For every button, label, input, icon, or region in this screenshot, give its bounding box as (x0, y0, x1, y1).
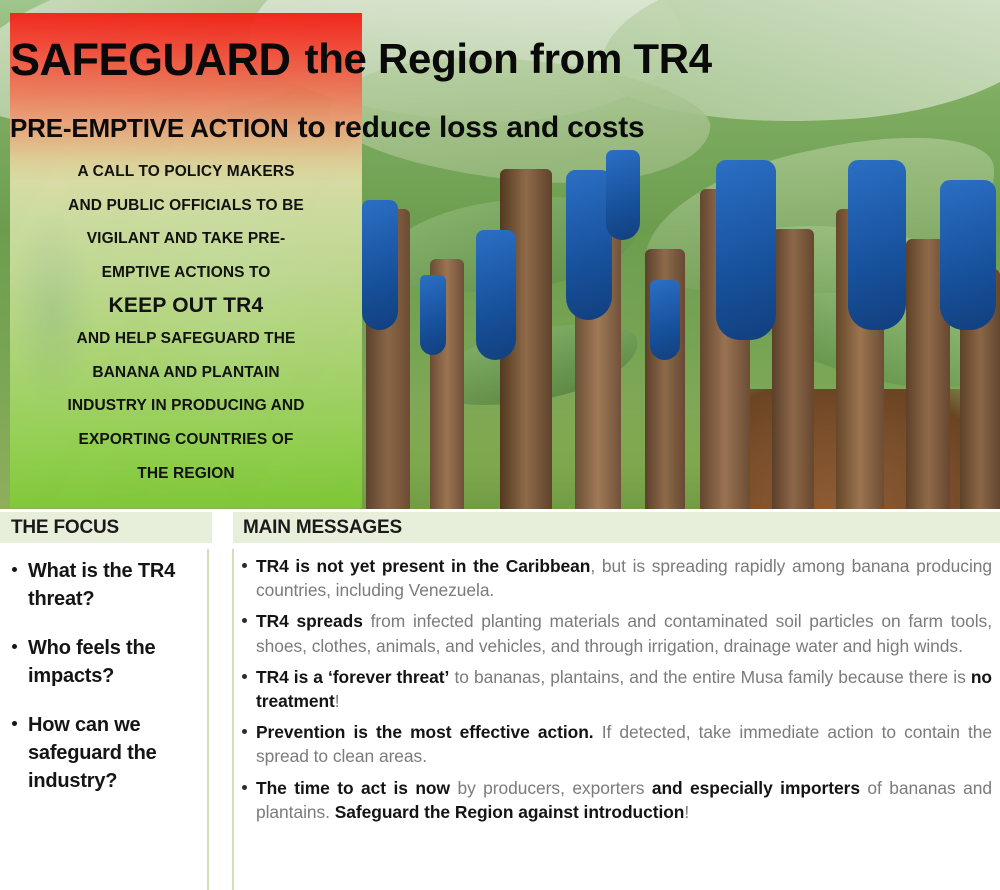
blue-bunch-cover (606, 150, 640, 240)
blue-bunch-cover (716, 160, 776, 340)
message-text: to bananas, plantains, and the entire Mu… (449, 667, 971, 687)
message-emphasis: and especially importers (652, 778, 860, 798)
message-emphasis: TR4 spreads (256, 611, 363, 631)
message-list-item: Prevention is the most effective action.… (240, 720, 992, 768)
focus-section-header: THE FOCUS (0, 512, 212, 543)
message-list-item: TR4 is not yet present in the Caribbean,… (240, 554, 992, 602)
message-text: ! (684, 802, 689, 822)
message-text: from infected planting materials and con… (256, 611, 992, 655)
call-line: AND HELP SAFEGUARD THE (14, 322, 358, 356)
call-line: A CALL TO POLICY MAKERS (14, 155, 358, 189)
title-highlight: SAFEGUARD (10, 37, 291, 82)
column-divider-right (232, 549, 234, 890)
column-divider-left (207, 549, 209, 890)
subtitle-rest: to reduce loss and costs (298, 111, 645, 145)
banana-pseudostem (772, 229, 814, 509)
call-emphasis: KEEP OUT TR4 (14, 290, 358, 323)
messages-section-header: MAIN MESSAGES (233, 512, 1000, 543)
focus-question-list: What is the TR4 threat?Who feels the imp… (8, 557, 204, 816)
title-rest: the Region from TR4 (305, 38, 712, 80)
poster-title: SAFEGUARD the Region from TR4 (10, 18, 1000, 100)
message-emphasis: TR4 is not yet present in the Caribbean (256, 556, 590, 576)
message-text: ! (335, 691, 340, 711)
call-to-action-text: A CALL TO POLICY MAKERSAND PUBLIC OFFICI… (14, 155, 358, 490)
focus-list-item: What is the TR4 threat? (8, 557, 204, 614)
message-emphasis: The time to act is now (256, 778, 450, 798)
call-line: THE REGION (14, 457, 358, 491)
message-list-item: TR4 spreads from infected planting mater… (240, 609, 992, 657)
lower-content-area: THE FOCUS MAIN MESSAGES What is the TR4 … (0, 509, 1000, 890)
main-messages-list: TR4 is not yet present in the Caribbean,… (240, 554, 992, 831)
subtitle-highlight: PRE-EMPTIVE ACTION (10, 113, 289, 144)
blue-bunch-cover (650, 280, 680, 360)
blue-bunch-cover (420, 275, 446, 355)
poster-subtitle: PRE-EMPTIVE ACTION to reduce loss and co… (10, 105, 1000, 151)
focus-heading-label: THE FOCUS (11, 517, 119, 539)
message-list-item: TR4 is a ‘forever threat’ to bananas, pl… (240, 665, 992, 713)
blue-bunch-cover (940, 180, 996, 330)
focus-list-item: Who feels the impacts? (8, 634, 204, 691)
message-emphasis: TR4 is a ‘forever threat’ (256, 667, 449, 687)
focus-list-item: How can we safeguard the industry? (8, 711, 204, 796)
call-line: EXPORTING COUNTRIES OF (14, 423, 358, 457)
poster-root: SAFEGUARD the Region from TR4 PRE-EMPTIV… (0, 0, 1000, 890)
message-text: by producers, exporters (450, 778, 652, 798)
message-emphasis: Safeguard the Region against introductio… (335, 802, 685, 822)
blue-bunch-cover (848, 160, 906, 330)
messages-heading-label: MAIN MESSAGES (243, 517, 402, 539)
blue-bunch-cover (476, 230, 516, 360)
call-line: INDUSTRY IN PRODUCING AND (14, 389, 358, 423)
message-emphasis: Prevention is the most effective action. (256, 722, 594, 742)
call-line: AND PUBLIC OFFICIALS TO BE (14, 189, 358, 223)
call-line: VIGILANT AND TAKE PRE- (14, 222, 358, 256)
message-list-item: The time to act is now by producers, exp… (240, 776, 992, 824)
blue-bunch-cover (362, 200, 398, 330)
call-line: EMPTIVE ACTIONS TO (14, 256, 358, 290)
call-line: BANANA AND PLANTAIN (14, 356, 358, 390)
